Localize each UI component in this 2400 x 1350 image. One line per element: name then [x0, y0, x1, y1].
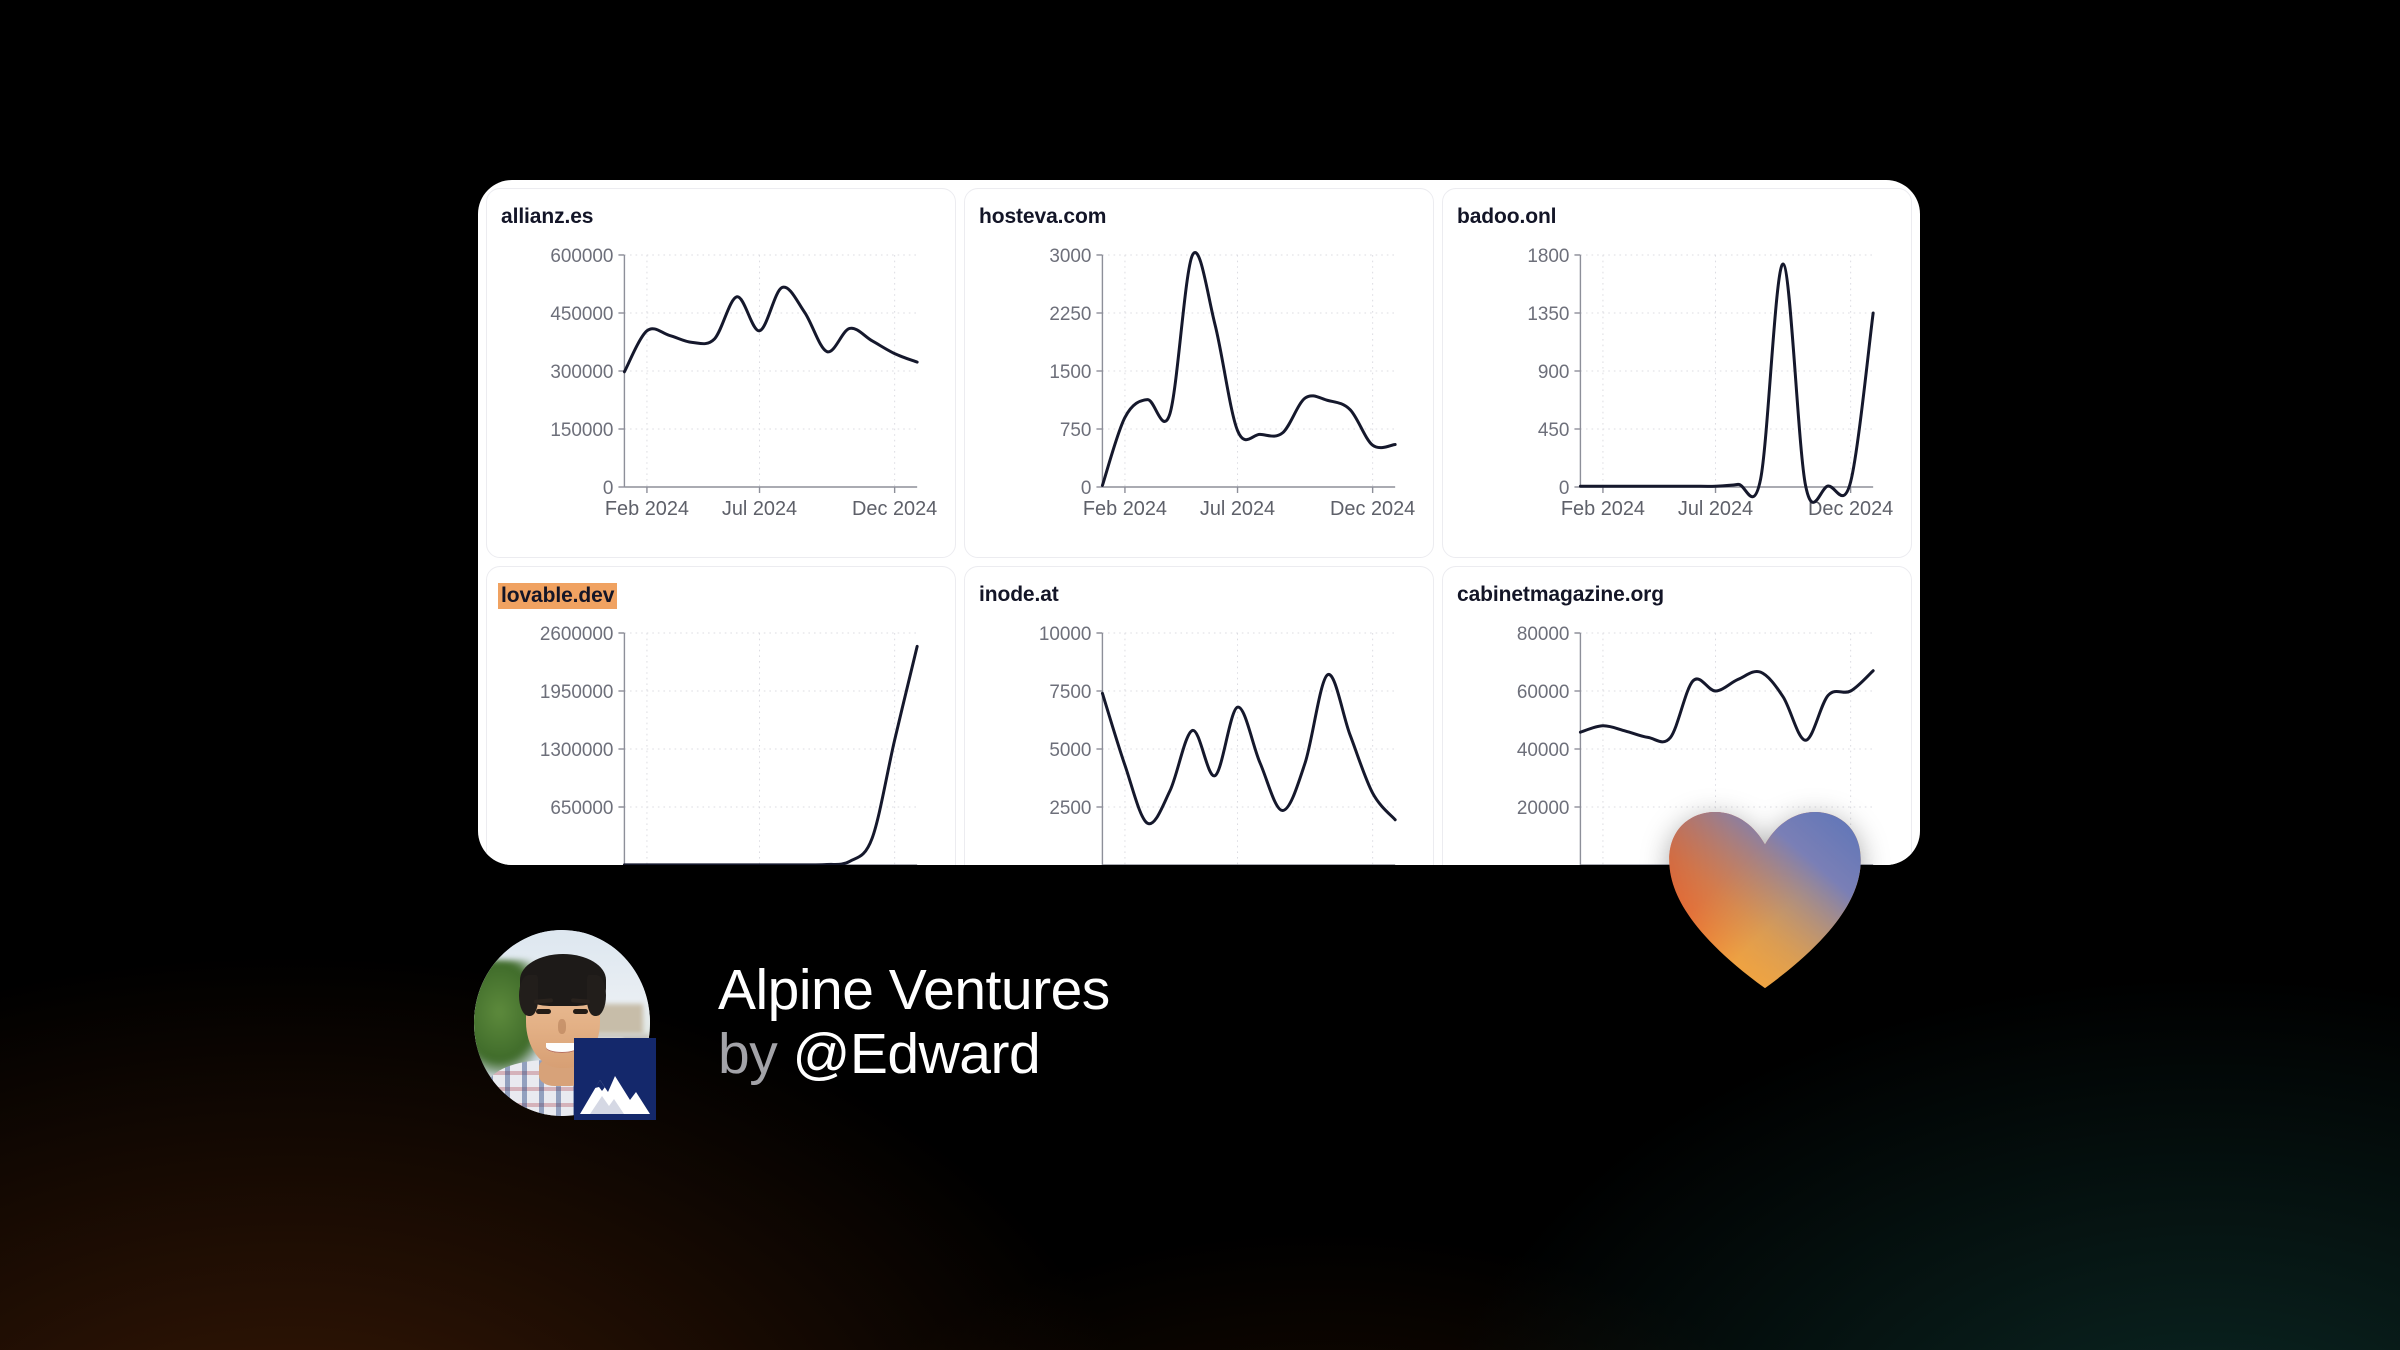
page-title: Alpine Ventures — [718, 959, 1110, 1023]
line-chart: 25005000750010000Feb 2024Jul 2024Dec 202… — [965, 617, 1433, 865]
svg-text:450: 450 — [1538, 420, 1570, 441]
svg-text:600000: 600000 — [550, 246, 613, 267]
svg-text:Feb 2024: Feb 2024 — [1083, 498, 1167, 520]
svg-text:1500: 1500 — [1049, 362, 1091, 383]
svg-text:Feb 2024: Feb 2024 — [1561, 498, 1645, 520]
svg-text:1300000: 1300000 — [540, 740, 614, 761]
author-handle[interactable]: @Edward — [793, 1022, 1041, 1086]
svg-text:Dec 2024: Dec 2024 — [1808, 498, 1893, 520]
author-line: by @Edward — [718, 1023, 1110, 1087]
svg-text:2250: 2250 — [1049, 304, 1091, 325]
chart-title: cabinetmagazine.org — [1457, 583, 1664, 607]
svg-text:7500: 7500 — [1049, 682, 1091, 703]
svg-text:Dec 2024: Dec 2024 — [1330, 498, 1415, 520]
svg-text:2600000: 2600000 — [540, 624, 614, 645]
svg-text:5000: 5000 — [1049, 740, 1091, 761]
svg-text:150000: 150000 — [550, 420, 613, 441]
svg-text:1800: 1800 — [1527, 246, 1569, 267]
chart-card[interactable]: lovable.dev650000130000019500002600000Fe… — [486, 566, 956, 865]
chart-card[interactable]: hosteva.com0750150022503000Feb 2024Jul 2… — [964, 188, 1434, 558]
chart-title: badoo.onl — [1457, 205, 1556, 229]
attribution-text: Alpine Ventures by @Edward — [718, 959, 1110, 1087]
svg-text:80000: 80000 — [1517, 624, 1570, 645]
chart-title: hosteva.com — [979, 205, 1106, 229]
chart-title: inode.at — [979, 583, 1059, 607]
dashboard-card: allianz.es0150000300000450000600000Feb 2… — [478, 180, 1920, 865]
svg-text:40000: 40000 — [1517, 740, 1570, 761]
svg-text:60000: 60000 — [1517, 682, 1570, 703]
svg-text:450000: 450000 — [550, 304, 613, 325]
avatar-wrapper — [474, 930, 650, 1116]
svg-text:300000: 300000 — [550, 362, 613, 383]
by-label: by — [718, 1022, 777, 1086]
chart-card[interactable]: inode.at25005000750010000Feb 2024Jul 202… — [964, 566, 1434, 865]
mountain-logo-icon — [574, 1038, 656, 1120]
svg-text:1950000: 1950000 — [540, 682, 614, 703]
chart-title: lovable.dev — [498, 583, 617, 609]
footer-attribution: Alpine Ventures by @Edward — [474, 930, 1110, 1116]
svg-text:1350: 1350 — [1527, 304, 1569, 325]
svg-text:Jul 2024: Jul 2024 — [1200, 498, 1275, 520]
line-chart: 0750150022503000Feb 2024Jul 2024Dec 2024 — [965, 239, 1433, 539]
chart-title: allianz.es — [501, 205, 593, 229]
svg-text:900: 900 — [1538, 362, 1570, 383]
svg-text:10000: 10000 — [1039, 624, 1092, 645]
svg-text:Jul 2024: Jul 2024 — [722, 498, 797, 520]
svg-text:750: 750 — [1060, 420, 1092, 441]
svg-text:20000: 20000 — [1517, 798, 1570, 819]
chart-grid: allianz.es0150000300000450000600000Feb 2… — [478, 180, 1920, 865]
svg-text:2500: 2500 — [1049, 798, 1091, 819]
heart-icon[interactable] — [1669, 812, 1861, 992]
svg-text:0: 0 — [1559, 478, 1570, 499]
line-chart: 650000130000019500002600000Feb 2024Jul 2… — [487, 617, 955, 865]
svg-text:650000: 650000 — [550, 798, 613, 819]
chart-card[interactable]: allianz.es0150000300000450000600000Feb 2… — [486, 188, 956, 558]
svg-text:0: 0 — [1081, 478, 1092, 499]
line-chart: 045090013501800Feb 2024Jul 2024Dec 2024 — [1443, 239, 1911, 539]
chart-card[interactable]: badoo.onl045090013501800Feb 2024Jul 2024… — [1442, 188, 1912, 558]
svg-text:Jul 2024: Jul 2024 — [1678, 498, 1753, 520]
svg-text:Feb 2024: Feb 2024 — [605, 498, 689, 520]
svg-text:0: 0 — [603, 478, 614, 499]
svg-text:Dec 2024: Dec 2024 — [852, 498, 937, 520]
line-chart: 0150000300000450000600000Feb 2024Jul 202… — [487, 239, 955, 539]
svg-text:3000: 3000 — [1049, 246, 1091, 267]
